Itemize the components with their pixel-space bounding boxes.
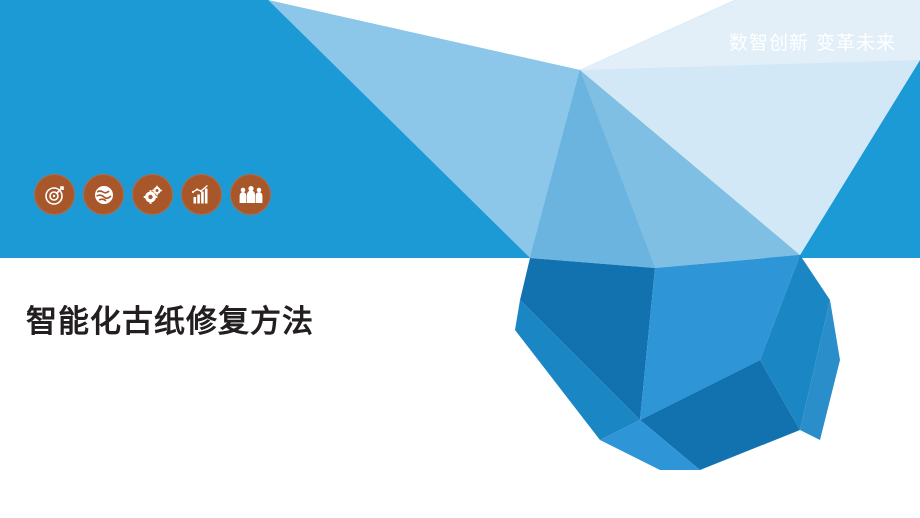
globe-icon: [83, 174, 124, 215]
background-geometric-artwork: [0, 0, 920, 518]
bar-chart-icon: [181, 174, 222, 215]
people-group-icon: [230, 174, 271, 215]
presentation-slide: 数智创新 变革未来: [0, 0, 920, 518]
page-title: 智能化古纸修复方法: [26, 296, 314, 341]
slide-tagline: 数智创新 变革未来: [729, 28, 896, 55]
icon-badge-row: [34, 174, 271, 215]
target-arrow-icon: [34, 174, 75, 215]
gears-icon: [132, 174, 173, 215]
